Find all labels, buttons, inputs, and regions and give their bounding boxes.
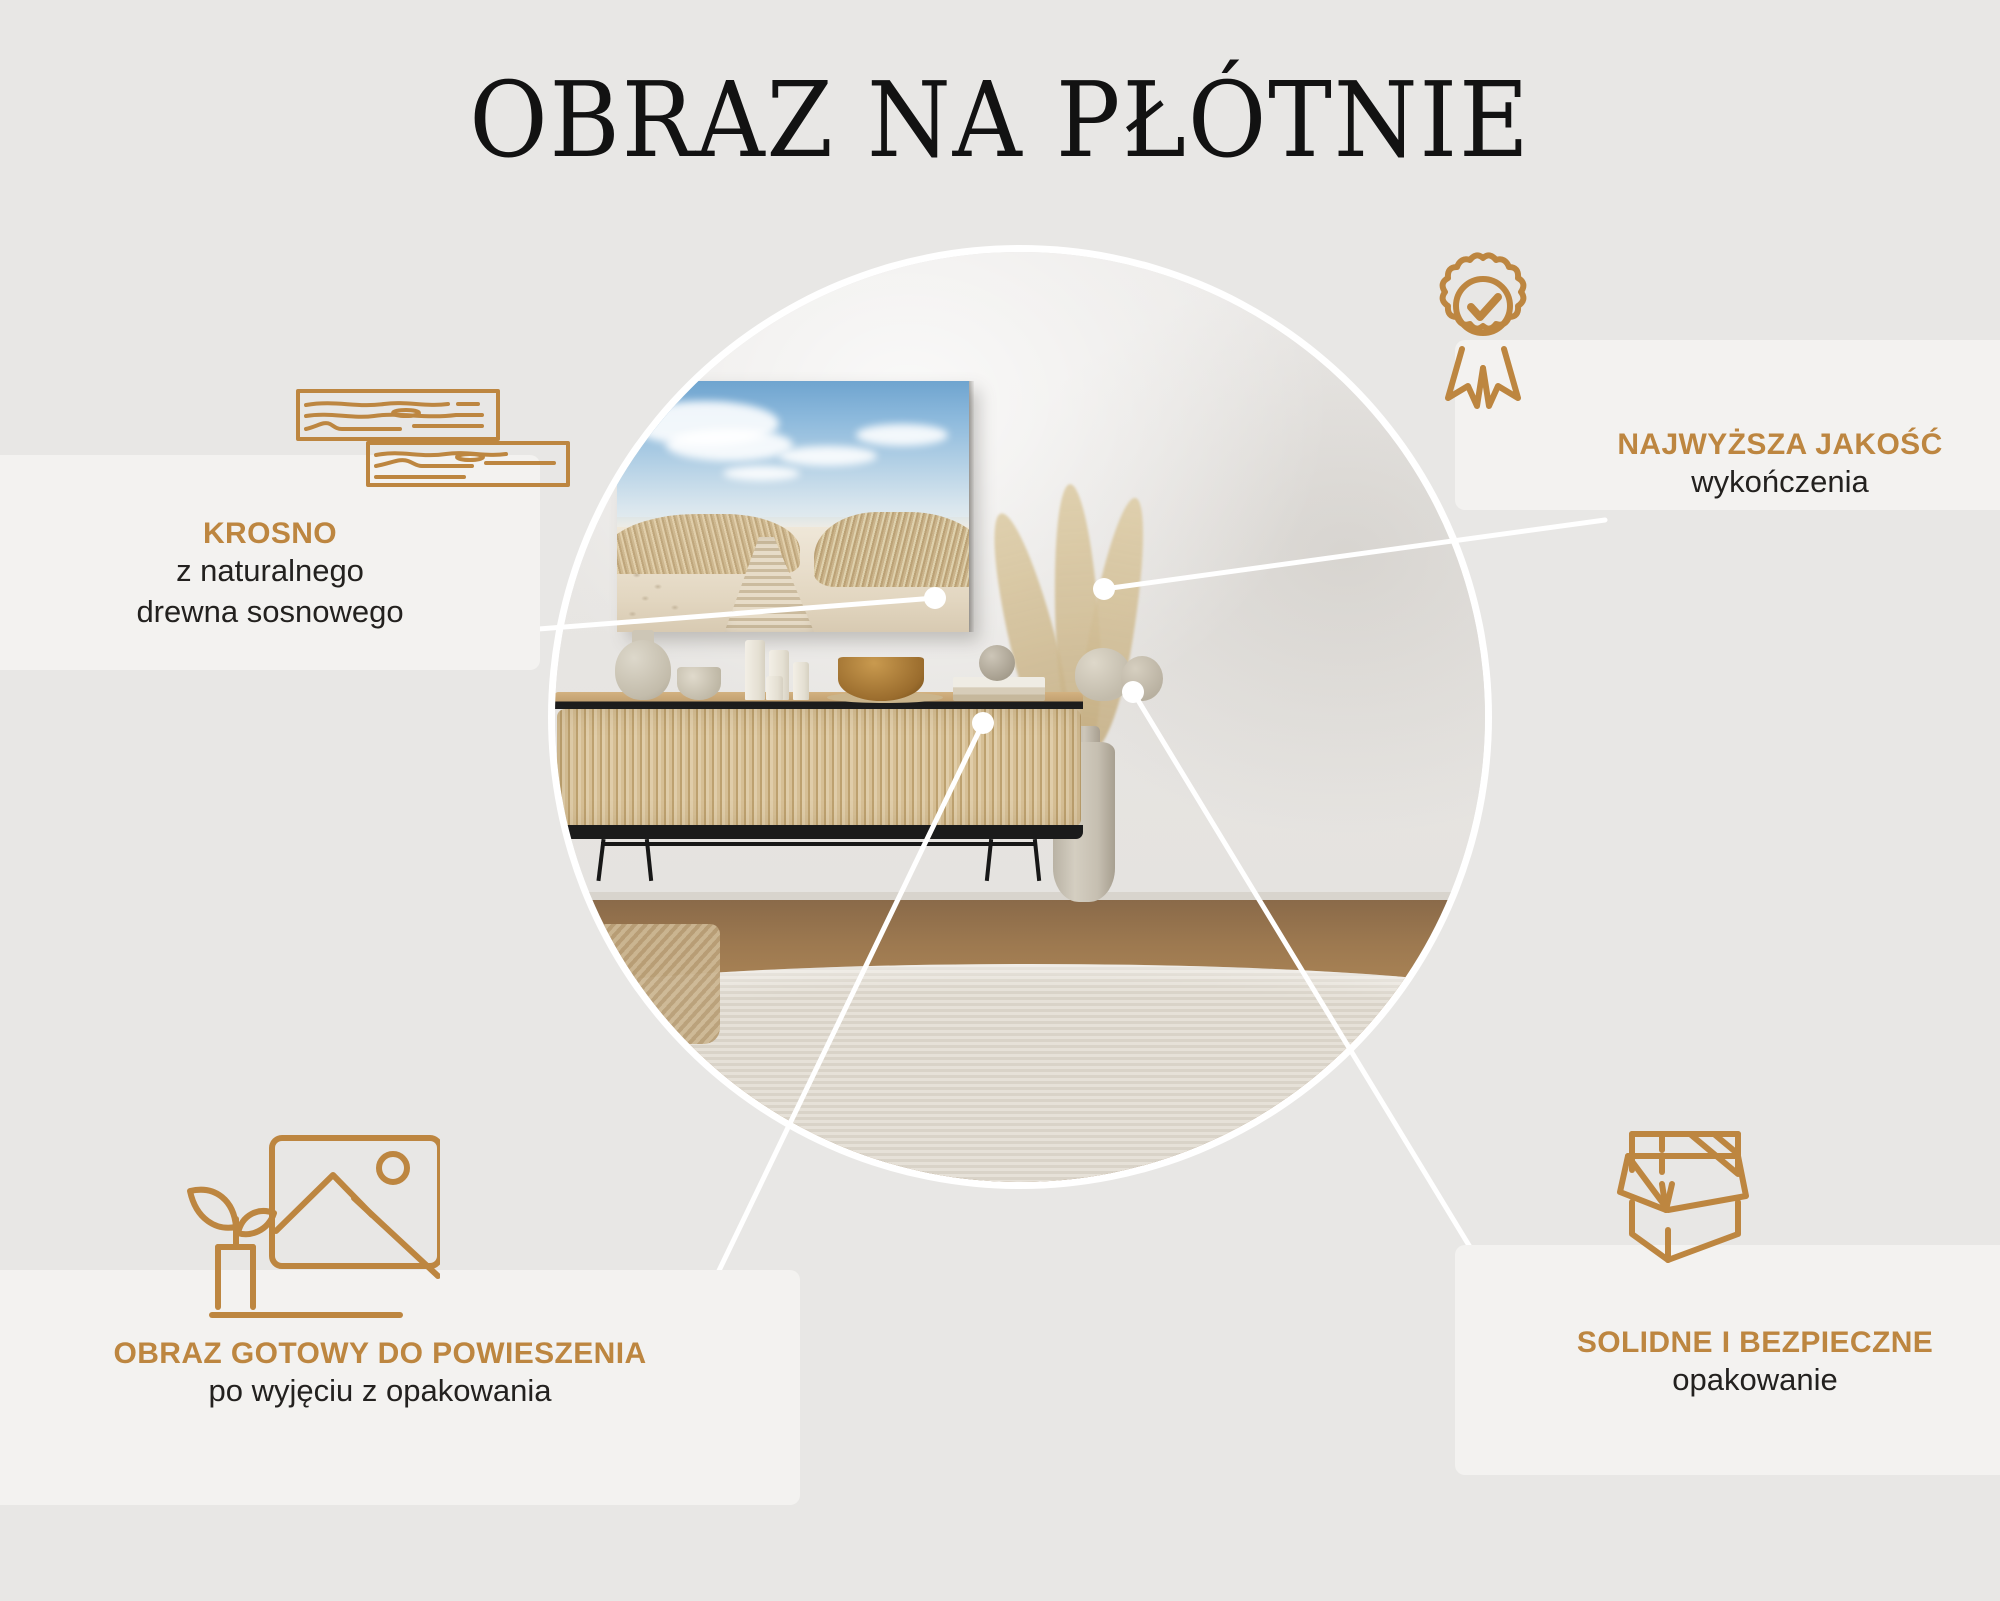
artwork-footprints bbox=[624, 562, 730, 627]
feature-title-krosno: KROSNO bbox=[0, 516, 540, 551]
canvas-artwork bbox=[617, 381, 969, 632]
ceramic-vase bbox=[615, 640, 671, 700]
feature-subtitle-krosno-line1: z naturalnego bbox=[0, 551, 540, 591]
feature-subtitle-krosno-line2: drewna sosnowego bbox=[0, 592, 540, 632]
quality-badge-icon bbox=[1418, 252, 1548, 412]
artwork-dune-right bbox=[814, 512, 969, 587]
interior-scene bbox=[555, 252, 1485, 1182]
woven-basket bbox=[595, 924, 720, 1044]
feature-label-jakosc: NAJWYŻSZA JAKOŚĆ wykończenia bbox=[1500, 427, 2000, 503]
candle bbox=[793, 662, 809, 700]
page-title: OBRAZ NA PŁÓTNIE bbox=[80, 66, 1920, 175]
feature-subtitle-solidne: opakowanie bbox=[1455, 1360, 2000, 1400]
feature-title-jakosc: NAJWYŻSZA JAKOŚĆ bbox=[1500, 427, 2000, 462]
framed-picture-icon bbox=[150, 1135, 440, 1335]
wood-planks-icon bbox=[296, 388, 571, 488]
candle bbox=[766, 676, 783, 700]
stone-sphere bbox=[979, 645, 1015, 681]
feature-title-gotowy: OBRAZ GOTOWY DO POWIESZENIA bbox=[0, 1336, 760, 1371]
canvas-edge bbox=[969, 381, 974, 632]
open-box-icon bbox=[1610, 1110, 1780, 1290]
feature-subtitle-jakosc: wykończenia bbox=[1500, 462, 2000, 502]
sideboard-leg-bar bbox=[601, 842, 1037, 846]
feature-label-gotowy: OBRAZ GOTOWY DO POWIESZENIA po wyjęciu z… bbox=[0, 1336, 760, 1412]
brass-bowl bbox=[838, 657, 924, 701]
feature-label-krosno: KROSNO z naturalnego drewna sosnowego bbox=[0, 516, 540, 632]
infographic-root: OBRAZ NA PŁÓTNIE bbox=[0, 0, 2000, 1601]
feature-subtitle-gotowy: po wyjęciu z opakowania bbox=[0, 1371, 760, 1411]
sideboard-base bbox=[555, 825, 1083, 839]
feature-title-solidne: SOLIDNE I BEZPIECZNE bbox=[1455, 1325, 2000, 1360]
sideboard bbox=[555, 692, 1083, 854]
sideboard-fluted-front bbox=[557, 709, 1081, 827]
candle bbox=[745, 640, 765, 700]
ceramic-vase bbox=[1121, 656, 1163, 701]
feature-label-solidne: SOLIDNE I BEZPIECZNE opakowanie bbox=[1455, 1325, 2000, 1401]
ceramic-bowl bbox=[677, 667, 721, 700]
circular-room-photo bbox=[555, 252, 1485, 1182]
